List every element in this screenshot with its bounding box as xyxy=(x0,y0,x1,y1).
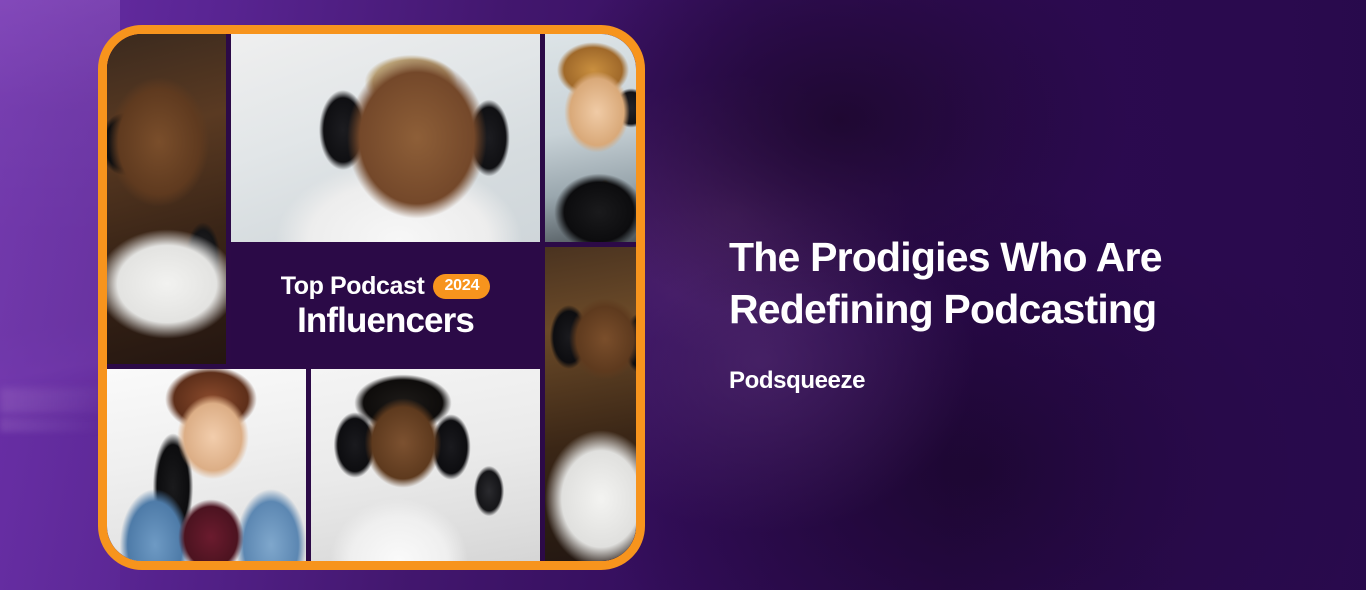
collage-title-small: Top Podcast xyxy=(281,274,425,299)
collage-photo-man-white-tee xyxy=(545,247,645,570)
photo-image xyxy=(545,34,645,242)
article-text-block: The Prodigies Who Are Redefining Podcast… xyxy=(729,231,1289,395)
year-badge: 2024 xyxy=(433,274,490,299)
photo-image xyxy=(107,369,306,570)
background-left-streak xyxy=(0,388,110,414)
collage-photo-bald-man xyxy=(231,34,540,242)
promo-banner: Top Podcast 2024 Influencers The Prodigi… xyxy=(0,0,1366,590)
collage-photo-blonde-host xyxy=(545,34,645,242)
collage-title-large: Influencers xyxy=(297,303,474,338)
podcast-collage-card: Top Podcast 2024 Influencers xyxy=(98,25,645,570)
background-left-streak-secondary xyxy=(0,418,100,432)
photo-image xyxy=(107,34,226,364)
photo-image xyxy=(545,247,645,570)
article-brand-name: Podsqueeze xyxy=(729,367,1289,395)
collage-photo-man-moustache xyxy=(311,369,540,570)
collage-title-line-one: Top Podcast 2024 xyxy=(281,274,491,299)
collage-photo-grid: Top Podcast 2024 Influencers xyxy=(107,34,636,561)
collage-photo-man-glasses xyxy=(107,34,226,364)
article-headline: The Prodigies Who Are Redefining Podcast… xyxy=(729,231,1289,336)
collage-title-panel: Top Podcast 2024 Influencers xyxy=(231,247,540,364)
photo-image xyxy=(231,34,540,242)
collage-photo-woman-denim xyxy=(107,369,306,570)
photo-image xyxy=(311,369,540,570)
